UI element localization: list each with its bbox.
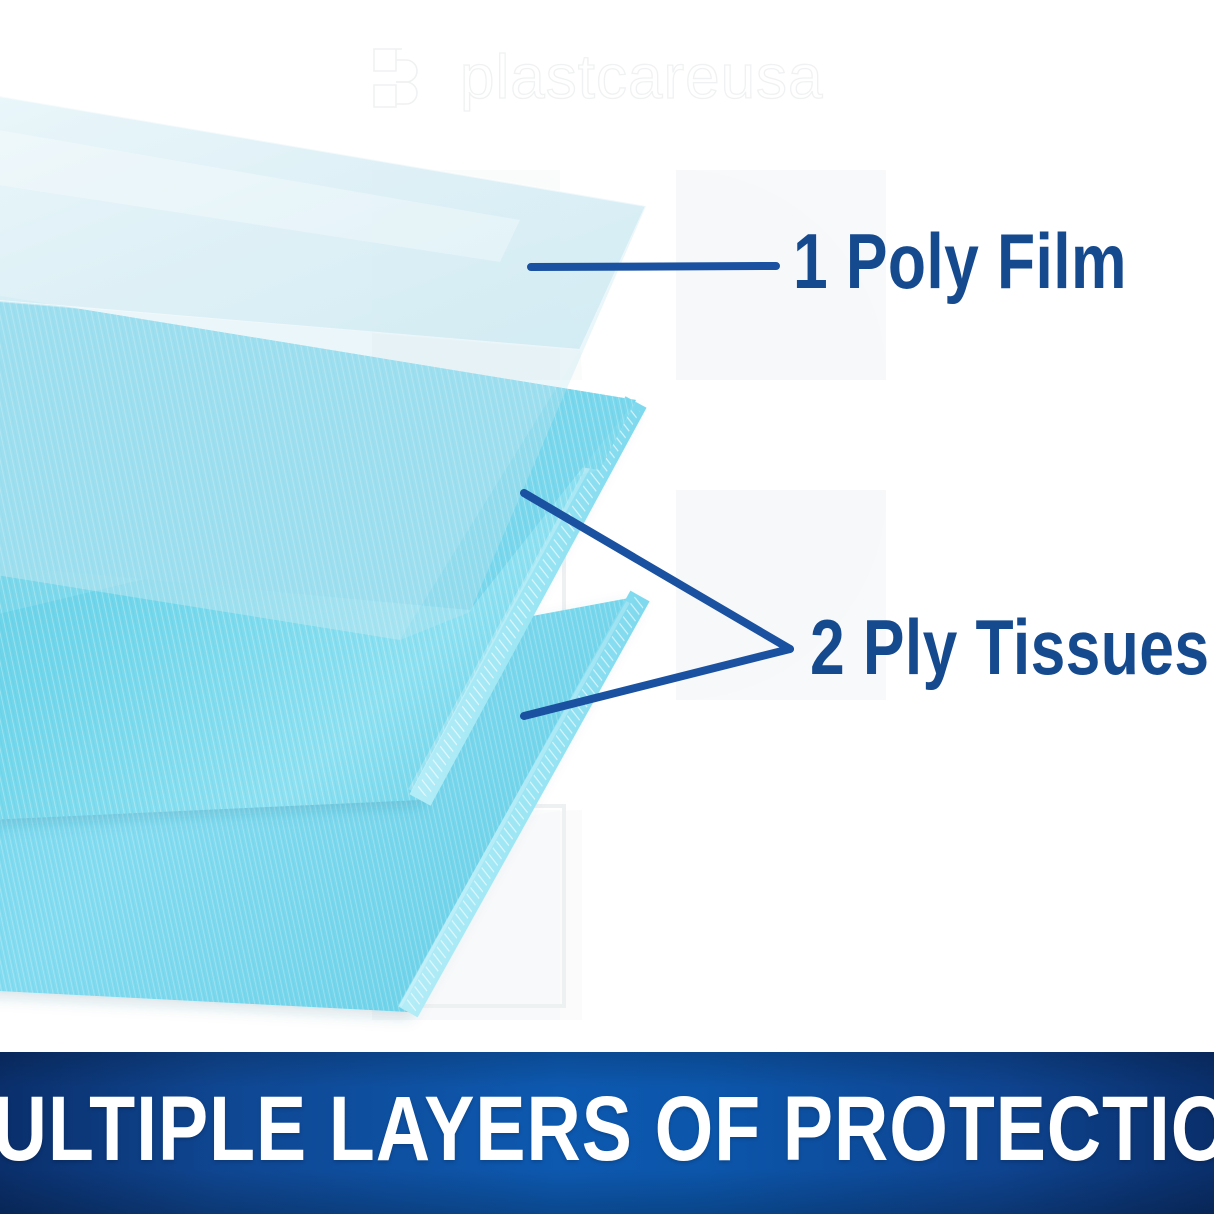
product-infographic: plastcareusa 1 Poly Film 2 Ply Tissues M… [0, 0, 1214, 1214]
bottom-banner: MULTIPLE LAYERS OF PROTECTION [0, 1052, 1214, 1214]
leader-line-tissue-lower [524, 649, 790, 716]
callout-label-poly-film: 1 Poly Film [793, 222, 1127, 300]
callout-leader-lines [0, 0, 1214, 1062]
banner-headline: MULTIPLE LAYERS OF PROTECTION [0, 1083, 1214, 1175]
leader-line-poly-film [531, 266, 776, 267]
callout-label-ply-tissues: 2 Ply Tissues [810, 608, 1210, 686]
leader-line-tissue-upper [524, 493, 790, 649]
